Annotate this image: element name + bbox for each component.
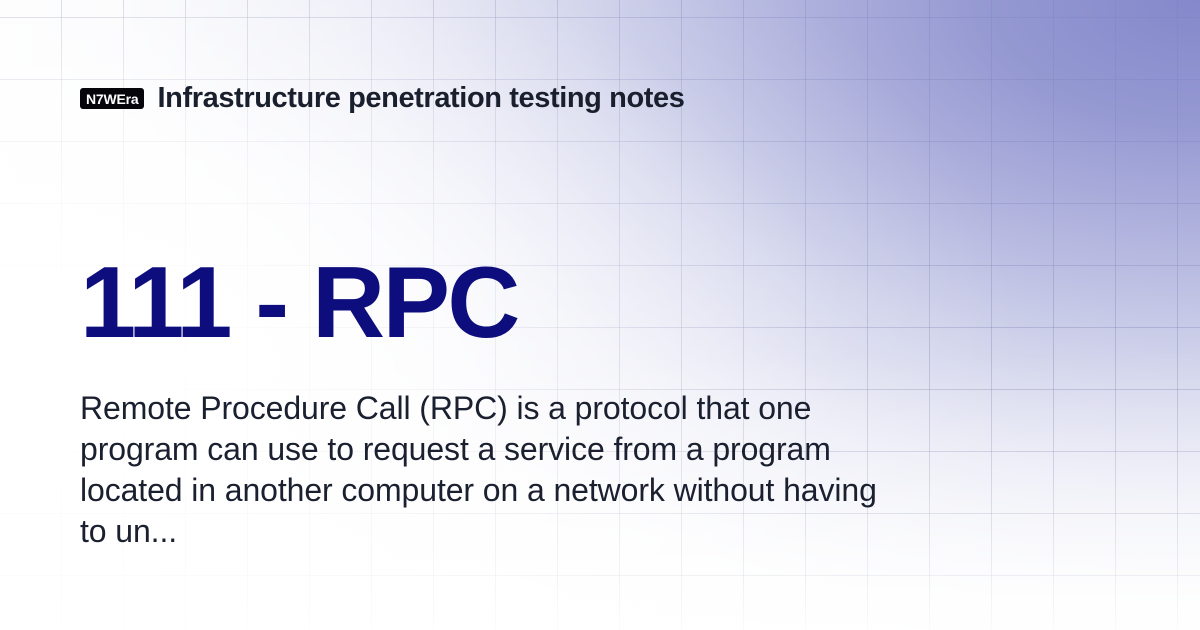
site-title: Infrastructure penetration testing notes	[157, 84, 684, 113]
page-title: 111 - RPC	[80, 253, 518, 354]
card-content: N7WEra Infrastructure penetration testin…	[0, 0, 1200, 630]
page-description: Remote Procedure Call (RPC) is a protoco…	[80, 388, 880, 552]
og-card: N7WEra Infrastructure penetration testin…	[0, 0, 1200, 630]
site-logo-badge: N7WEra	[80, 88, 144, 109]
brand-header: N7WEra Infrastructure penetration testin…	[80, 84, 685, 113]
